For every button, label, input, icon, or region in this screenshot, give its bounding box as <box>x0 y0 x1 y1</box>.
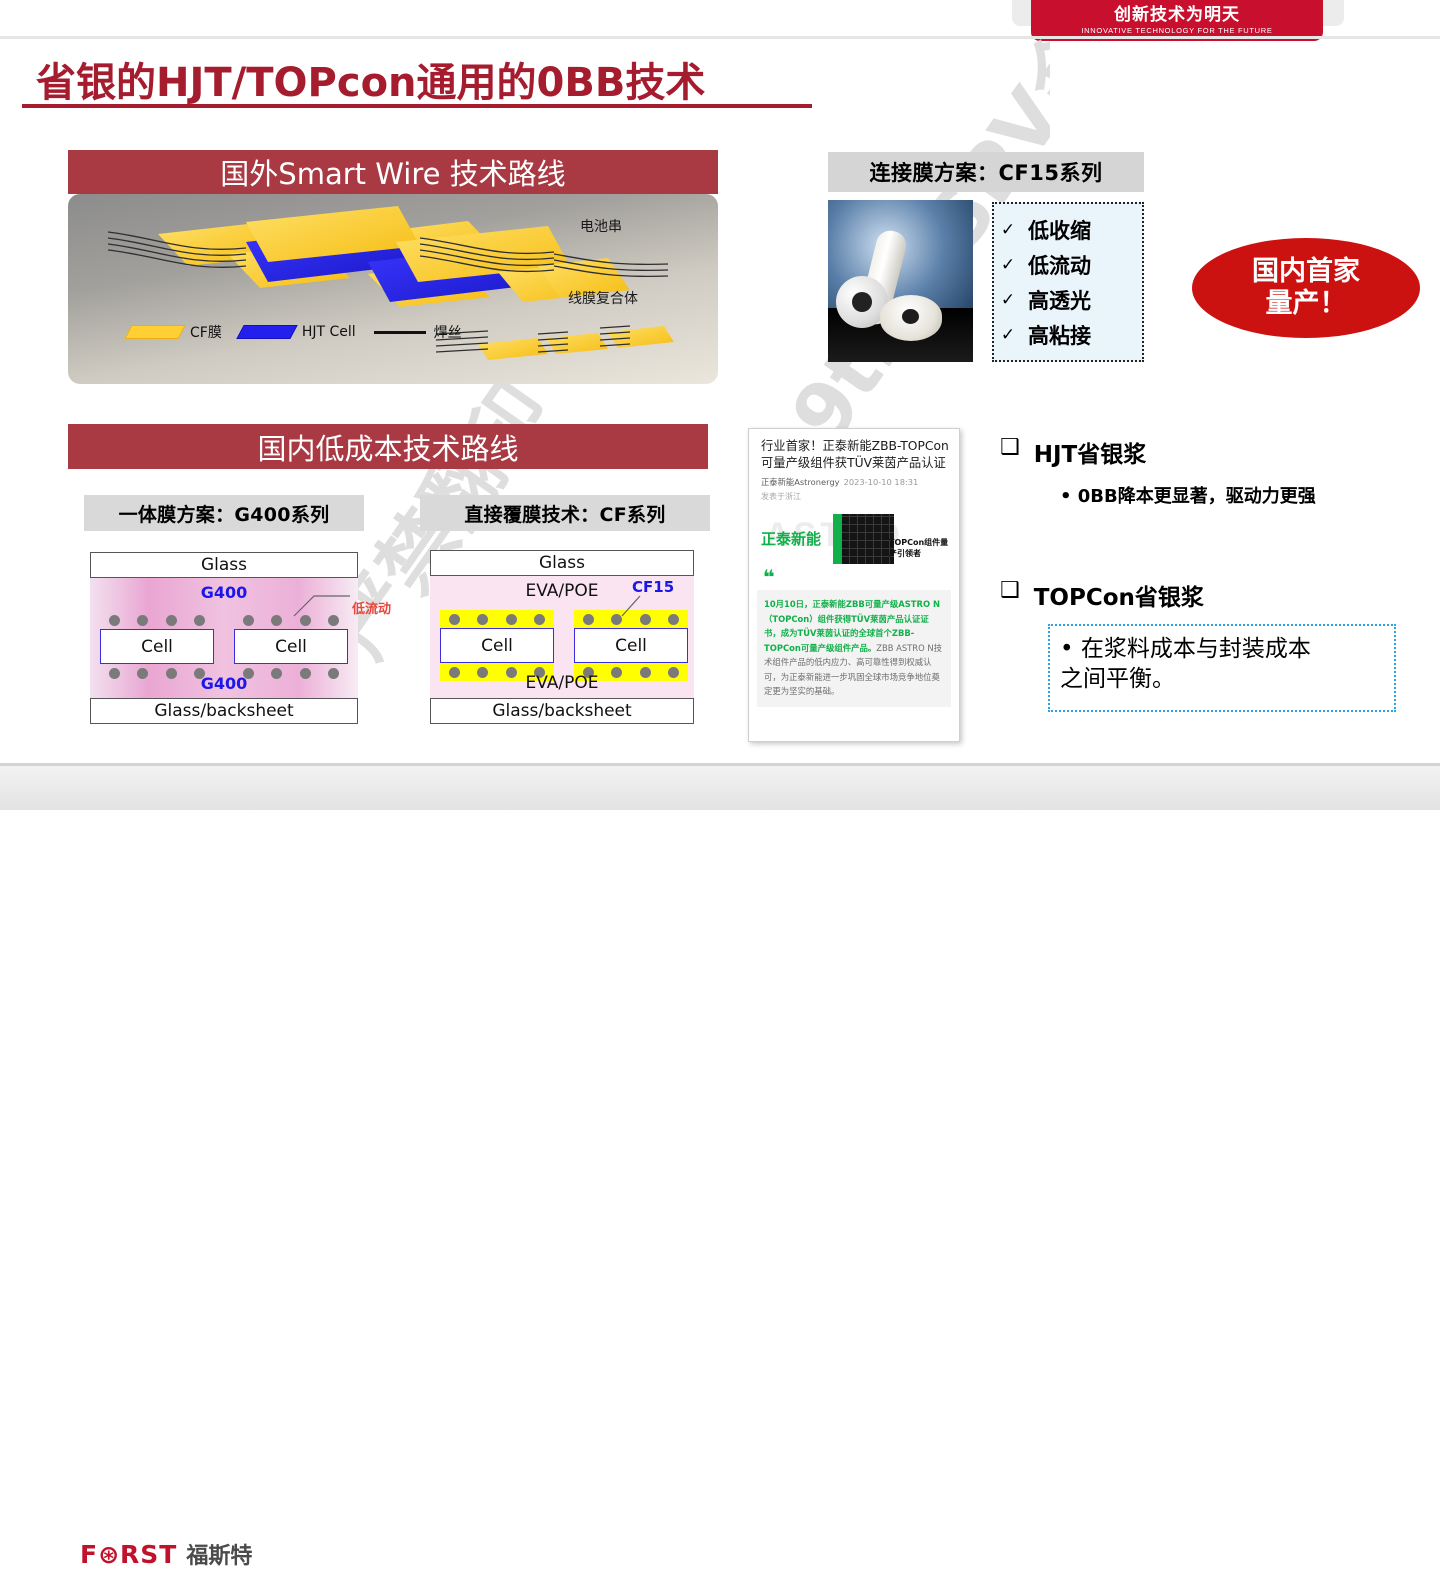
cell-label: Cell <box>100 629 214 664</box>
yellow-film-swatch-icon <box>124 325 185 339</box>
cell-row: Cell Cell <box>440 610 688 681</box>
cell-unit: Cell <box>440 610 554 681</box>
check-icon: ✓ <box>1000 290 1016 310</box>
cf15-header: 连接膜方案：CF15系列 <box>828 152 1144 192</box>
brand-slogan-block: 创新技术为明天 INNOVATIVE TECHNOLOGY FOR THE FU… <box>1031 0 1323 41</box>
first-mass-production-badge: 国内首家 量产！ <box>1192 238 1420 338</box>
cell-unit: Cell <box>574 610 688 681</box>
list-item: ✓ 高透光 <box>1000 285 1142 315</box>
cf-film-pads-top <box>440 610 554 628</box>
cf15-feature-label: 低流动 <box>1028 250 1091 280</box>
sub-bullet-topcon-text: • 在浆料成本与封装成本 之间平衡。 <box>1060 634 1384 694</box>
g400-annotation-leader <box>292 590 352 620</box>
banner-brand-text: 正泰新能 <box>761 528 821 549</box>
news-account: 正泰新能Astronergy <box>761 477 840 487</box>
news-location: 发表于浙江 <box>749 488 959 502</box>
square-bullet-icon: ❑ <box>1000 435 1020 459</box>
bullet-heading: TOPCon省银浆 <box>1034 578 1204 612</box>
header-divider <box>0 36 1440 39</box>
bullet-hjt-silver-paste: ❑ HJT省银浆 <box>1000 435 1146 469</box>
label-wire-film-composite: 线膜复合体 <box>568 288 638 308</box>
annotation-low-flow: 低流动 <box>352 598 391 617</box>
film-roll-front <box>880 295 942 341</box>
cell-label: Cell <box>574 628 688 663</box>
check-icon: ✓ <box>1000 220 1016 240</box>
busbar-pads-top <box>100 611 214 629</box>
bullet-heading: HJT省银浆 <box>1034 435 1147 469</box>
logo-text-en: F⊛RST <box>80 1540 177 1569</box>
bullet-topcon-silver-paste: ❑ TOPCon省银浆 <box>1000 578 1204 612</box>
stack-layer-glass: Glass <box>430 550 694 576</box>
legend-label-hjt-cell: HJT Cell <box>302 324 356 340</box>
cf15-feature-list: ✓ 低收缩 ✓ 低流动 ✓ 高透光 ✓ 高粘接 <box>992 202 1144 362</box>
cell-unit: Cell <box>234 611 348 682</box>
cell-label: Cell <box>234 629 348 664</box>
banner-tagline: TOPCon组件量产引领者 <box>889 537 953 559</box>
cell-label: Cell <box>440 628 554 663</box>
legend-label-solder-wire: 焊丝 <box>434 322 462 342</box>
news-meta: 正泰新能Astronergy2023-10-10 18:31 <box>749 474 959 488</box>
quote-mark-icon: ❝ <box>749 568 959 586</box>
cf15-feature-label: 低收缩 <box>1028 215 1091 245</box>
list-item: ✓ 低流动 <box>1000 250 1142 280</box>
stack-layer-backsheet: Glass/backsheet <box>430 698 694 724</box>
news-body: 10月10日，正泰新能ZBB可量产级ASTRO N（TOPCon）组件获得TÜV… <box>757 590 951 707</box>
top-banner: 创新技术为明天 INNOVATIVE TECHNOLOGY FOR THE FU… <box>0 0 1440 40</box>
g400-stack-diagram: Glass G400 Cell Cell G400 Glass/backshee… <box>90 552 358 724</box>
check-icon: ✓ <box>1000 325 1016 345</box>
cf15-feature-label: 高粘接 <box>1028 320 1091 350</box>
smart-wire-legend: CF膜 HJT Cell 焊丝 <box>128 322 472 342</box>
encapsulant-label-bottom: G400 <box>90 674 358 693</box>
slide-root: 创新技术为明天 INNOVATIVE TECHNOLOGY FOR THE FU… <box>0 0 1440 810</box>
legend-label-cf-film: CF膜 <box>190 322 222 342</box>
sub-bullet-hjt: • 0BB降本更显著，驱动力更强 <box>1060 482 1316 508</box>
square-bullet-icon: ❑ <box>1000 578 1020 602</box>
company-logo: F⊛RST 福斯特 <box>80 1538 252 1570</box>
news-banner-image: ASTRO 正泰新能 TOPCon组件量产引领者 <box>755 510 953 568</box>
subhead-cf-series: 直接覆膜技术：CF系列 <box>420 495 710 531</box>
news-headline: 行业首家！正泰新能ZBB-TOPCon可量产级组件获TÜV莱茵产品认证 <box>749 429 959 474</box>
brand-slogan-en: INNOVATIVE TECHNOLOGY FOR THE FUTURE <box>1081 26 1272 36</box>
cell-row: Cell Cell <box>100 611 348 682</box>
cf15-feature-label: 高透光 <box>1028 285 1091 315</box>
brand-slogan-cn: 创新技术为明天 <box>1114 6 1240 25</box>
news-date: 2023-10-10 18:31 <box>844 477 919 487</box>
title-underline <box>22 104 812 108</box>
domestic-route-header: 国内低成本技术路线 <box>68 424 708 469</box>
badge-line-1: 国内首家 <box>1252 256 1360 288</box>
list-item: ✓ 高粘接 <box>1000 320 1142 350</box>
stack-layer-glass: Glass <box>90 552 358 578</box>
page-title: 省银的HJT/TOPcon通用的0BB技术 <box>36 50 705 108</box>
smart-wire-diagram: 电池串 线膜复合体 CF膜 HJT Cell 焊丝 <box>68 194 718 384</box>
blue-cell-swatch-icon <box>236 325 297 339</box>
solar-module-icon <box>833 514 894 564</box>
list-item: ✓ 低收缩 <box>1000 215 1142 245</box>
logo-text-cn: 福斯特 <box>186 1538 252 1570</box>
encapsulant-label-bottom: EVA/POE <box>430 673 694 693</box>
stack-layer-backsheet: Glass/backsheet <box>90 698 358 724</box>
subhead-g400: 一体膜方案：G400系列 <box>84 495 364 531</box>
cell-unit: Cell <box>100 611 214 682</box>
cf15-annotation-leader <box>620 594 650 618</box>
footer-bar: F⊛RST 福斯特 <box>0 766 1440 810</box>
film-roll-photo <box>828 200 973 362</box>
news-screenshot-card[interactable]: 行业首家！正泰新能ZBB-TOPCon可量产级组件获TÜV莱茵产品认证 正泰新能… <box>748 428 960 742</box>
black-wire-line-icon <box>374 331 426 334</box>
sub-bullet-topcon-box: • 在浆料成本与封装成本 之间平衡。 <box>1048 624 1396 712</box>
smart-wire-header: 国外Smart Wire 技术路线 <box>68 150 718 194</box>
check-icon: ✓ <box>1000 255 1016 275</box>
cf-stack-diagram: Glass EVA/POE Cell Cell EVA/POE Glass/ba… <box>430 550 694 724</box>
badge-line-2: 量产！ <box>1266 288 1347 320</box>
label-cell-string: 电池串 <box>580 216 622 236</box>
